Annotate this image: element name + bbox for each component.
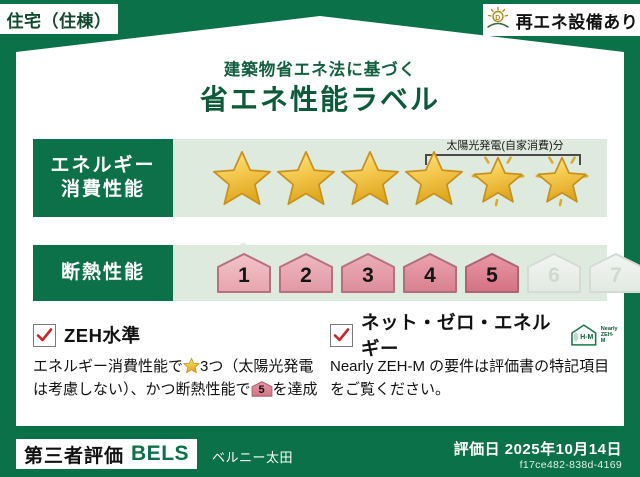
star-solar	[467, 147, 529, 209]
insulation-badge-inactive: 6	[525, 251, 583, 295]
insulation-badge-number: 6	[525, 264, 583, 288]
renewable-energy-label: 再エネ設備あり	[516, 8, 639, 33]
energy-label-card: 住宅（住棟） D 再エネ設備あり 建築物省エネ法に基づく 省エネ性能ラベル バル…	[0, 0, 640, 477]
insulation-badge-number: 3	[339, 264, 397, 288]
insulation-badge: 4	[401, 251, 459, 295]
star-solar	[531, 147, 593, 209]
zeh-body-part4: を達成	[273, 381, 318, 398]
housing-type-label: 住宅（住棟）	[7, 7, 112, 32]
zeh-m-logo-icon: H-M Nearly ZEH-M	[569, 323, 618, 347]
zeh-body-part1: エネルギー消費性能で	[33, 358, 183, 375]
bels-jp-label: 第三者評価	[24, 441, 124, 468]
net-zero-energy-section: ネット・ゼロ・エネルギー H-M Nearly ZEH-M Nearly ZEH…	[330, 322, 618, 402]
svg-text:H-M: H-M	[580, 334, 593, 341]
insulation-badge-number: 1	[215, 264, 273, 288]
insulation-badge-inactive: 7	[587, 251, 640, 295]
svg-text:D: D	[495, 15, 501, 22]
insulation-badge-number: 2	[277, 264, 335, 288]
net-zero-energy-body: Nearly ZEH-M の要件は評価書の特記項目をご覧ください。	[330, 355, 618, 402]
label-subtitle: 建築物省エネ法に基づく	[0, 56, 640, 80]
energy-performance-label: エネルギー 消費性能	[33, 139, 173, 217]
star-filled	[275, 147, 337, 209]
insulation-performance-label: 断熱性能	[33, 245, 173, 301]
star-filled	[403, 147, 465, 209]
check-icon	[330, 324, 353, 347]
page-title: 省エネ性能ラベル	[0, 78, 640, 118]
zeh-m-logo-caption: Nearly ZEH-M	[601, 326, 618, 345]
insulation-badge-list: 1 2 3 4 5 6 7	[183, 245, 607, 301]
zeh-standard-section: ZEH水準 エネルギー消費性能で3つ（太陽光発電 は考慮しない）、かつ断熱性能で…	[33, 322, 321, 402]
insulation-badge-number: 4	[401, 264, 459, 288]
insulation-badge: 5	[463, 251, 521, 295]
star-filled	[211, 147, 273, 209]
inline-star-icon	[183, 357, 200, 374]
net-zero-energy-header: ネット・ゼロ・エネルギー H-M Nearly ZEH-M	[330, 322, 618, 348]
zeh-body-part3: は考慮しない）、かつ断熱性能で	[33, 381, 251, 398]
zeh-standard-title: ZEH水準	[64, 322, 141, 348]
check-icon	[33, 324, 56, 347]
insulation-badge: 2	[277, 251, 335, 295]
bels-en-label: BELS	[131, 442, 189, 466]
inline-badge-number: 5	[251, 382, 273, 399]
energy-performance-row: エネルギー 消費性能 太陽光発電(自家消費)分	[33, 139, 607, 217]
solar-sun-icon: D	[485, 6, 511, 35]
zeh-body-part2: 3つ（太陽光発電	[200, 358, 313, 375]
renewable-energy-tag: D 再エネ設備あり	[483, 4, 640, 36]
insulation-performance-row: 断熱性能 1 2 3	[33, 245, 607, 301]
housing-type-tag: 住宅（住棟）	[0, 4, 118, 34]
inline-insulation-badge: 5	[251, 380, 273, 398]
net-zero-energy-title: ネット・ゼロ・エネルギー	[361, 309, 557, 361]
star-filled	[339, 147, 401, 209]
owner-name: ベルニー太田	[212, 447, 293, 466]
footer: 第三者評価 BELS ベルニー太田 評価日 2025年10月14日 f17ce4…	[0, 433, 640, 477]
evaluation-id: f17ce482-838d-4169	[520, 459, 622, 471]
zeh-standard-body: エネルギー消費性能で3つ（太陽光発電 は考慮しない）、かつ断熱性能で5を達成	[33, 355, 321, 402]
insulation-badge: 3	[339, 251, 397, 295]
insulation-badge: 1	[215, 251, 273, 295]
star-rating	[183, 139, 607, 217]
zeh-standard-header: ZEH水準	[33, 322, 321, 348]
bels-badge: 第三者評価 BELS	[16, 439, 197, 469]
insulation-badge-number: 5	[463, 264, 521, 288]
evaluation-date: 評価日 2025年10月14日	[454, 438, 622, 459]
insulation-badge-number: 7	[587, 264, 640, 288]
